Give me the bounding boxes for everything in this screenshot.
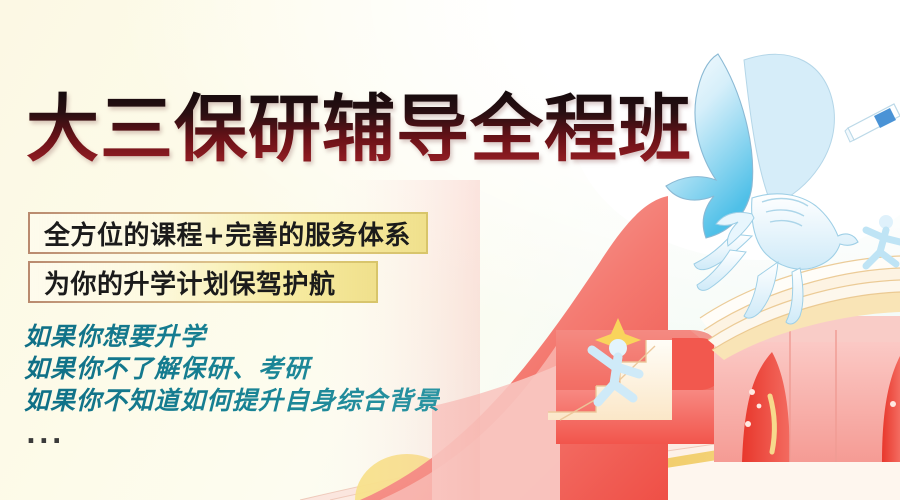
door-dot-2 (757, 404, 762, 409)
highlight-chip-1-label: 全方位的课程+完善的服务体系 (30, 215, 411, 252)
door-dot-3 (745, 421, 751, 427)
body-ellipsis: ... (26, 420, 65, 450)
body-line-2: 如果你不了解保研、考研 (24, 354, 440, 386)
highlight-chip-2-label: 为你的升学计划保驾护航 (30, 264, 336, 301)
body-line-3: 如果你不知道如何提升自身综合背景 (24, 386, 440, 418)
door-dot-1 (749, 389, 755, 395)
body-line-1: 如果你想要升学 (24, 322, 440, 354)
highlight-chip-1: 全方位的课程+完善的服务体系 (28, 212, 428, 254)
headline-text: 大三保研辅导全程班 (26, 88, 692, 172)
highlight-chip-2: 为你的升学计划保驾护航 (28, 261, 378, 303)
page-title: 大三保研辅导全程班 (26, 88, 726, 172)
red-building-icon (714, 342, 900, 462)
door-dot-4 (890, 401, 896, 407)
promo-banner: 大三保研辅导全程班 全方位的课程+完善的服务体系 为你的升学计划保驾护航 如果你… (0, 0, 900, 500)
body-copy: 如果你想要升学 如果你不了解保研、考研 如果你不知道如何提升自身综合背景 (24, 322, 440, 418)
